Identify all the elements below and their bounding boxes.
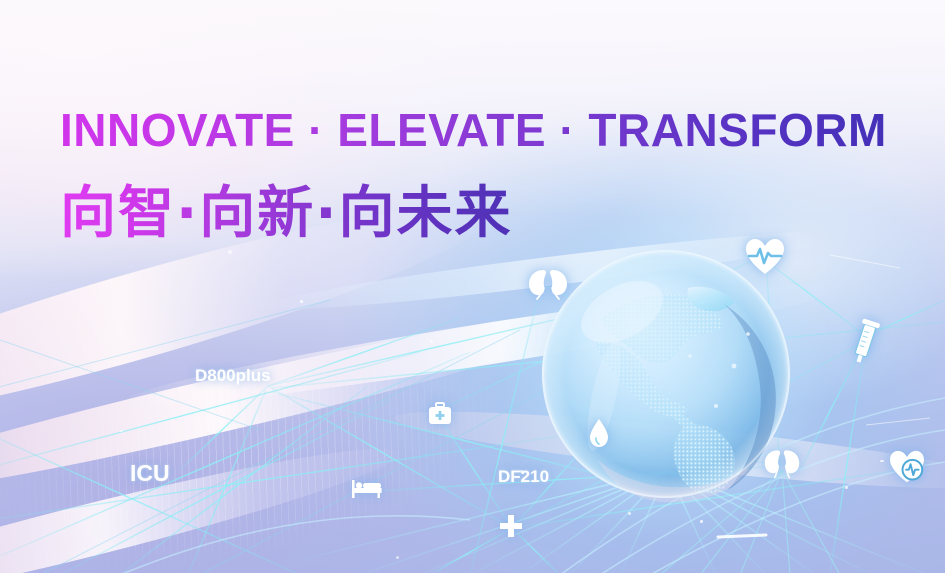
hospital-bed-icon <box>352 478 382 498</box>
sparkle <box>430 340 433 343</box>
earth-globe <box>538 246 794 502</box>
water-drop-icon <box>588 418 610 448</box>
heart-pulse-icon <box>744 238 786 276</box>
sparkle <box>628 512 631 515</box>
headline-english: INNOVATE · ELEVATE · TRANSFORM <box>60 103 887 157</box>
syringe-icon <box>851 318 879 366</box>
sparkle <box>845 486 848 489</box>
shimmer-texture-band <box>0 268 580 573</box>
light-ribbon-4 <box>0 326 432 573</box>
sparkle <box>396 556 399 559</box>
hero-banner: INNOVATE · ELEVATE · TRANSFORM 向智·向新·向未来… <box>0 0 945 573</box>
kidneys-icon <box>526 268 570 302</box>
heart-ecg-icon <box>888 450 926 484</box>
node-label-icu: ICU <box>130 460 170 487</box>
kidneys-icon <box>762 448 802 480</box>
node-label-d800plus: D800plus <box>195 366 271 386</box>
headline-chinese: 向智·向新·向未来 <box>60 168 513 249</box>
sparkle <box>520 470 523 473</box>
sparkle <box>228 250 232 254</box>
sparkle <box>700 520 703 523</box>
node-label-df210: DF210 <box>498 467 549 487</box>
sparkle <box>300 300 303 303</box>
sparkle <box>120 430 123 432</box>
medical-cross-icon <box>500 515 522 537</box>
medical-kit-icon <box>428 402 452 426</box>
sparkle <box>880 460 884 462</box>
